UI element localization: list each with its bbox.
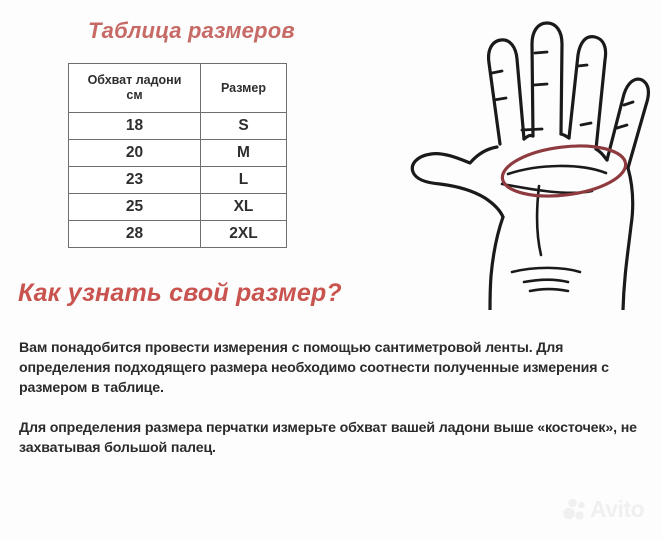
column-header-circumference-line1: Обхват ладони <box>88 73 182 87</box>
table-row: 25 XL <box>69 194 287 221</box>
table-row: 28 2XL <box>69 221 287 248</box>
hand-outline-svg <box>384 8 662 310</box>
cell-size: L <box>201 167 287 194</box>
cell-circumference: 28 <box>69 221 201 248</box>
cell-circumference: 20 <box>69 140 201 167</box>
avito-logo-icon <box>563 498 586 521</box>
avito-wordmark: Avito <box>590 498 644 521</box>
cell-size: S <box>201 113 287 140</box>
column-header-circumference-line2: см <box>69 88 200 103</box>
table-body: 18 S 20 M 23 L 25 XL 28 2XL <box>69 113 287 248</box>
howto-paragraph-2: Для определения размера перчатки измерьт… <box>19 418 643 458</box>
cell-size: 2XL <box>201 221 287 248</box>
cell-circumference: 25 <box>69 194 201 221</box>
cell-size: M <box>201 140 287 167</box>
cell-size: XL <box>201 194 287 221</box>
size-table-title: Таблица размеров <box>88 18 295 44</box>
size-chart-page: Таблица размеров Обхват ладони см Размер… <box>0 0 662 540</box>
cell-circumference: 23 <box>69 167 201 194</box>
howto-heading: Как узнать свой размер? <box>18 279 342 308</box>
hand-illustration <box>384 8 662 310</box>
avito-watermark: Avito <box>563 494 651 524</box>
table-row: 20 M <box>69 140 287 167</box>
size-table: Обхват ладони см Размер 18 S 20 M 23 L 2… <box>68 63 287 248</box>
cell-circumference: 18 <box>69 113 201 140</box>
table-row: 23 L <box>69 167 287 194</box>
table-row: 18 S <box>69 113 287 140</box>
column-header-circumference: Обхват ладони см <box>69 64 201 113</box>
table-header-row: Обхват ладони см Размер <box>69 64 287 113</box>
column-header-size: Размер <box>201 64 287 113</box>
howto-paragraph-1: Вам понадобится провести измерения с пом… <box>19 338 643 398</box>
